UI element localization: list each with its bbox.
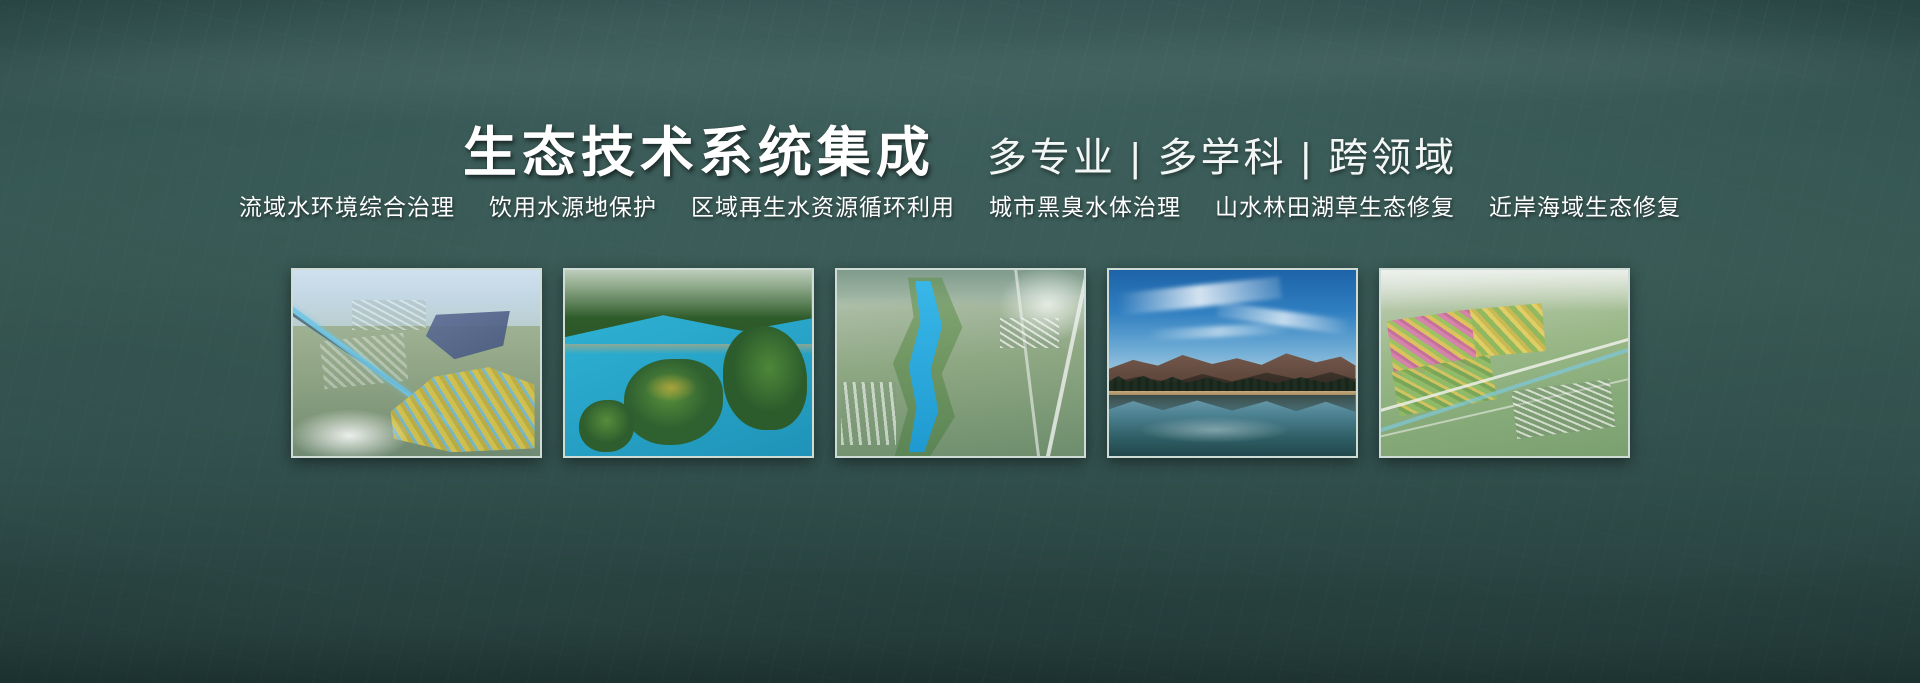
mist-patch — [980, 270, 1086, 356]
thumbnail-image-2 — [565, 270, 812, 456]
thumbnail-image-3 — [837, 270, 1084, 456]
cloud-wisp — [291, 404, 421, 458]
tagline-item-6[interactable]: 近岸海域生态修复 — [1489, 188, 1681, 222]
island-left — [579, 400, 633, 452]
thumbnail-image-1 — [293, 270, 540, 456]
tagline-item-3[interactable]: 区域再生水资源循环利用 — [691, 188, 955, 222]
banner-content: 生态技术系统集成 多专业 | 多学科 | 跨领域 流域水环境综合治理 饮用水源地… — [0, 0, 1920, 683]
thumbnail-mountain-lake-reflection-photo[interactable] — [1107, 268, 1358, 458]
tagline-item-2[interactable]: 饮用水源地保护 — [489, 188, 657, 222]
banner-headline: 生态技术系统集成 — [463, 108, 935, 187]
banner-headline-subtitle: 多专业 | 多学科 | 跨领域 — [987, 125, 1457, 183]
hero-banner: 生态技术系统集成 多专业 | 多学科 | 跨领域 流域水环境综合治理 饮用水源地… — [0, 0, 1920, 683]
tagline-row: 流域水环境综合治理 饮用水源地保护 区域再生水资源循环利用 城市黑臭水体治理 山… — [0, 188, 1920, 222]
tagline-item-5[interactable]: 山水林田湖草生态修复 — [1215, 188, 1455, 222]
thumbnail-watershed-masterplan-aerial[interactable] — [291, 268, 542, 458]
tagline-item-4[interactable]: 城市黑臭水体治理 — [989, 188, 1181, 222]
thumbnail-turquoise-lake-forested-islands[interactable] — [563, 268, 814, 458]
thumbnail-meandering-river-greenbelt[interactable] — [835, 268, 1086, 458]
headline-row: 生态技术系统集成 多专业 | 多学科 | 跨领域 — [0, 108, 1920, 187]
tagline-item-1[interactable]: 流域水环境综合治理 — [239, 188, 455, 222]
town-blocks — [352, 300, 426, 330]
thumbnail-image-4 — [1109, 270, 1356, 456]
autumn-foliage — [634, 367, 708, 408]
island-right — [723, 326, 807, 430]
cloud-reflection — [1128, 415, 1301, 445]
horizon-haze — [1381, 270, 1628, 311]
thumbnail-image-5 — [1381, 270, 1628, 456]
greenhouse-plots — [841, 382, 895, 445]
thumbnail-colorful-farmland-aerial[interactable] — [1379, 268, 1630, 458]
haze-layer — [565, 270, 812, 318]
thumbnail-row — [0, 268, 1920, 458]
